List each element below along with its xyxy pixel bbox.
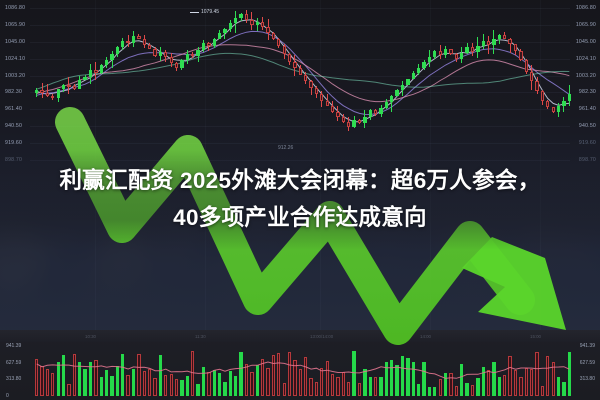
screenshot-root: 1086.801065.901045.001024.101003.20982.3… — [0, 0, 600, 400]
page-title: 利赢汇配资 2025外滩大会闭幕：超6万人参会， 40多项产业合作达成意向 — [0, 162, 600, 236]
headline-line-2: 40多项产业合作达成意向 — [0, 199, 600, 236]
headline-line-1: 利赢汇配资 2025外滩大会闭幕：超6万人参会， — [59, 168, 540, 193]
